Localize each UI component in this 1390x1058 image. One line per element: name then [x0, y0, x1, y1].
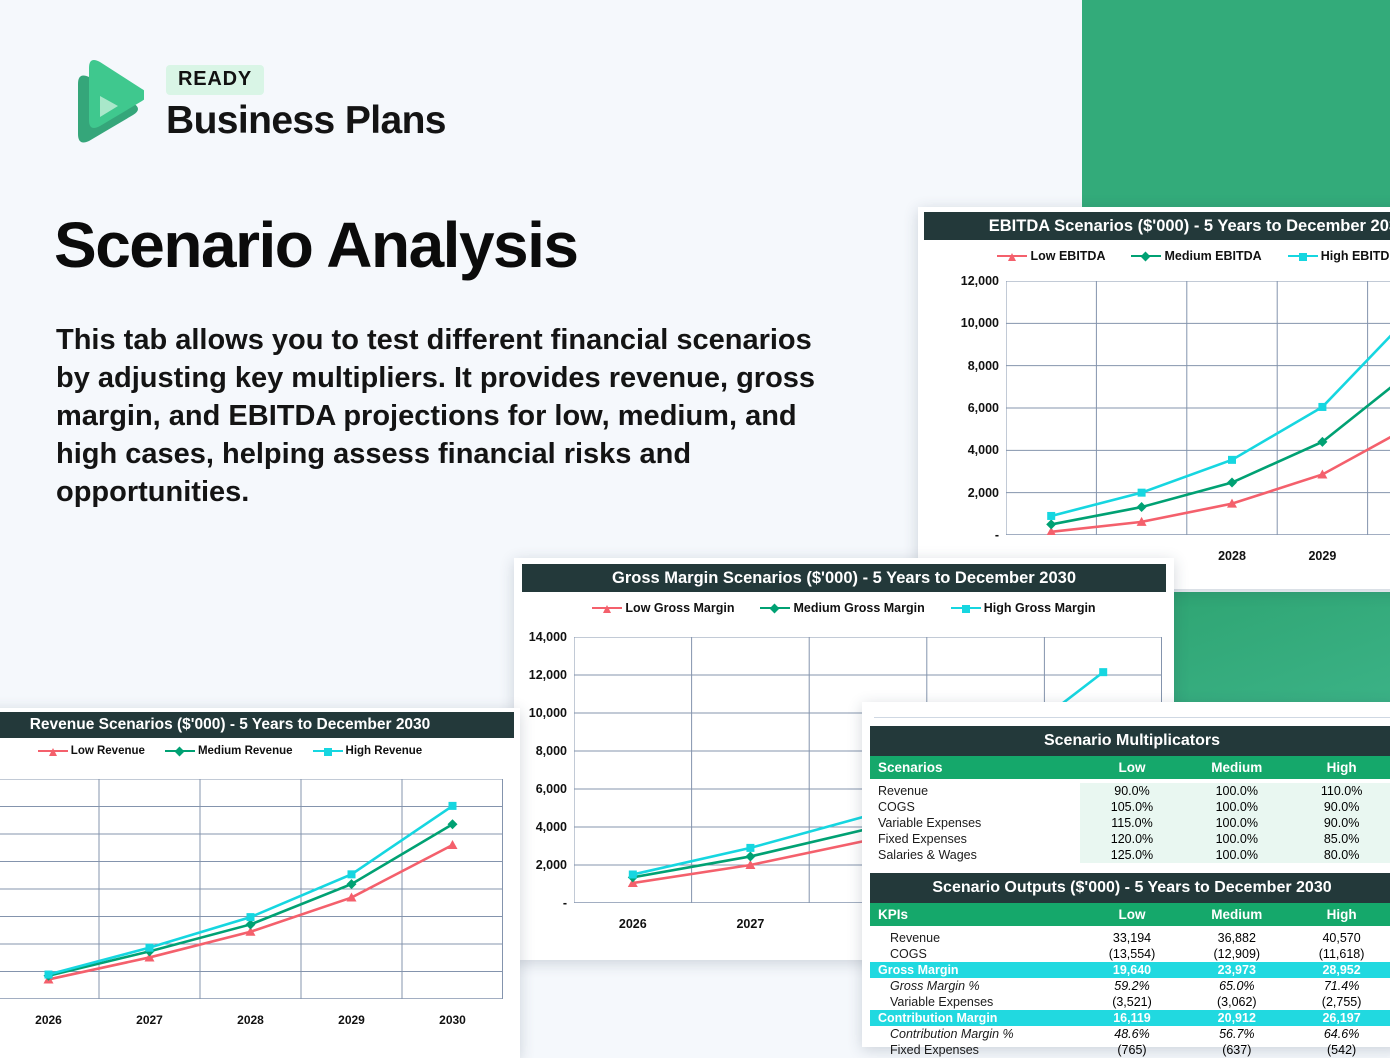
y-axis-tick-label: 2,000	[968, 486, 1006, 500]
brand-name: Business Plans	[166, 101, 446, 140]
ebitda-chart-card: EBITDA Scenarios ($'000) - 5 Years to De…	[918, 207, 1390, 589]
cell-medium: 20,912	[1184, 1010, 1289, 1026]
column-header-scenarios: Scenarios	[870, 756, 1080, 779]
cell-medium: 23,973	[1184, 962, 1289, 978]
cell-medium: (637)	[1184, 1042, 1289, 1058]
column-header-high: High	[1289, 756, 1390, 779]
table-row: Gross Margin %59.2%65.0%71.4%	[870, 978, 1390, 994]
x-axis-tick-label: 2027	[736, 903, 764, 931]
legend-label: Low Gross Margin	[625, 601, 734, 615]
cell-high: 26,197	[1289, 1010, 1390, 1026]
y-axis-tick-label: 10,000	[529, 706, 574, 720]
y-axis-tick-label: 12,000	[529, 668, 574, 682]
column-header-low: Low	[1080, 903, 1185, 926]
table-row-contribution-margin: Contribution Margin16,11920,91226,197	[870, 1010, 1390, 1026]
cell-low: 59.2%	[1080, 978, 1185, 994]
row-label: Variable Expenses	[870, 994, 1080, 1010]
y-axis-tick-label: 8,000	[536, 744, 574, 758]
y-axis-tick-label: 2,000	[536, 858, 574, 872]
cell-low[interactable]: 125.0%	[1080, 847, 1185, 863]
cell-low[interactable]: 105.0%	[1080, 799, 1185, 815]
column-header-low: Low	[1080, 756, 1185, 779]
legend-item-high-revenue: High Revenue	[313, 745, 423, 757]
row-label: Fixed Expenses	[870, 831, 1080, 847]
legend-item-high-gross-margin: High Gross Margin	[951, 601, 1096, 615]
cell-medium: (3,062)	[1184, 994, 1289, 1010]
y-axis-tick-label: 4,000	[536, 820, 574, 834]
cell-medium[interactable]: 100.0%	[1184, 815, 1289, 831]
row-label: Contribution Margin	[870, 1010, 1080, 1026]
table-row: Fixed Expenses(765)(637)(542)	[870, 1042, 1390, 1058]
column-header-medium: Medium	[1184, 756, 1289, 779]
ebitda-chart-legend: Low EBITDA Medium EBITDA High EBITDA	[918, 249, 1390, 263]
cell-low[interactable]: 115.0%	[1080, 815, 1185, 831]
multiplicators-banner: Scenario Multiplicators	[870, 726, 1390, 756]
cell-high[interactable]: 90.0%	[1289, 799, 1390, 815]
y-axis-tick-label: -	[995, 528, 1006, 542]
cell-medium: 65.0%	[1184, 978, 1289, 994]
cell-medium: 36,882	[1184, 930, 1289, 946]
cell-high: 28,952	[1289, 962, 1390, 978]
play-triangle-logo-icon	[56, 56, 144, 148]
column-header-high: High	[1289, 903, 1390, 926]
y-axis-tick-label: 6,000	[968, 401, 1006, 415]
y-axis-tick-label: 4,000	[968, 443, 1006, 457]
cell-low: 19,640	[1080, 962, 1185, 978]
cell-high: 40,570	[1289, 930, 1390, 946]
revenue-chart-card: Revenue Scenarios ($'000) - 5 Years to D…	[0, 708, 520, 1058]
table-row: Revenue33,19436,88240,570	[870, 930, 1390, 946]
table-row: Salaries & Wages125.0%100.0%80.0%	[870, 847, 1390, 863]
table-row-gross-margin: Gross Margin19,64023,97328,952	[870, 962, 1390, 978]
revenue-chart-legend: Low Revenue Medium Revenue High Revenue	[0, 745, 520, 757]
cell-medium[interactable]: 100.0%	[1184, 783, 1289, 799]
cell-high: (11,618)	[1289, 946, 1390, 962]
cell-high[interactable]: 85.0%	[1289, 831, 1390, 847]
legend-item-low-revenue: Low Revenue	[38, 745, 145, 757]
page-title: Scenario Analysis	[54, 208, 578, 282]
decorative-green-block-middle	[1168, 592, 1390, 702]
cell-medium[interactable]: 100.0%	[1184, 831, 1289, 847]
row-label: COGS	[870, 946, 1080, 962]
legend-label: High Revenue	[346, 745, 423, 757]
cell-low: (765)	[1080, 1042, 1185, 1058]
cell-high: 71.4%	[1289, 978, 1390, 994]
decorative-green-block-top	[1082, 0, 1390, 208]
y-axis-tick-label: 8,000	[968, 359, 1006, 373]
legend-item-low-gross-margin: Low Gross Margin	[592, 601, 734, 615]
table-row: Fixed Expenses120.0%100.0%85.0%	[870, 831, 1390, 847]
legend-label: High EBITDA	[1321, 249, 1390, 263]
x-axis-tick-label: 2026	[35, 999, 62, 1027]
table-row: Contribution Margin %48.6%56.7%64.6%	[870, 1026, 1390, 1042]
legend-label: Low EBITDA	[1030, 249, 1105, 263]
legend-item-medium-revenue: Medium Revenue	[165, 745, 293, 757]
row-label: Salaries & Wages	[870, 847, 1080, 863]
x-axis-tick-label: 2029	[338, 999, 365, 1027]
outputs-table: KPIs Low Medium High Revenue33,19436,882…	[870, 903, 1390, 1058]
legend-item-medium-ebitda: Medium EBITDA	[1131, 249, 1261, 263]
row-label: Revenue	[870, 783, 1080, 799]
page-description: This tab allows you to test different fi…	[56, 322, 846, 512]
legend-item-low-ebitda: Low EBITDA	[997, 249, 1105, 263]
ebitda-chart-title: EBITDA Scenarios ($'000) - 5 Years to De…	[924, 212, 1390, 240]
y-axis-tick-label: 12,000	[961, 274, 1006, 288]
ebitda-plot-area: -2,0004,0006,0008,00010,00012,0002028202…	[1006, 281, 1390, 535]
cell-low: 48.6%	[1080, 1026, 1185, 1042]
cell-low: 33,194	[1080, 930, 1185, 946]
cell-high: 64.6%	[1289, 1026, 1390, 1042]
legend-label: Medium Revenue	[198, 745, 293, 757]
cell-high: (2,755)	[1289, 994, 1390, 1010]
y-axis-tick-label: 10,000	[961, 316, 1006, 330]
panel-top-rule	[874, 708, 1390, 718]
cell-medium[interactable]: 100.0%	[1184, 799, 1289, 815]
ready-badge: READY	[166, 65, 264, 95]
table-header-row: Scenarios Low Medium High	[870, 756, 1390, 779]
cell-medium: (12,909)	[1184, 946, 1289, 962]
row-label: COGS	[870, 799, 1080, 815]
x-axis-tick-label: 2028	[1218, 535, 1246, 563]
cell-low[interactable]: 90.0%	[1080, 783, 1185, 799]
legend-label: Low Revenue	[71, 745, 145, 757]
scenario-tables-panel: Scenario Multiplicators Scenarios Low Me…	[862, 702, 1390, 1047]
legend-label: Medium EBITDA	[1164, 249, 1261, 263]
table-row: Variable Expenses(3,521)(3,062)(2,755)	[870, 994, 1390, 1010]
brand-wordmark: READY Business Plans	[166, 65, 446, 140]
cell-high[interactable]: 110.0%	[1289, 783, 1390, 799]
outputs-banner: Scenario Outputs ($'000) - 5 Years to De…	[870, 873, 1390, 903]
cell-low[interactable]: 120.0%	[1080, 831, 1185, 847]
brand-logo: READY Business Plans	[56, 56, 446, 148]
cell-high[interactable]: 90.0%	[1289, 815, 1390, 831]
row-label: Revenue	[870, 930, 1080, 946]
column-header-medium: Medium	[1184, 903, 1289, 926]
legend-label: Medium Gross Margin	[793, 601, 924, 615]
gross-margin-chart-legend: Low Gross Margin Medium Gross Margin Hig…	[514, 601, 1174, 615]
table-row: COGS105.0%100.0%90.0%	[870, 799, 1390, 815]
revenue-plot-area: 20262027202820292030	[0, 779, 503, 999]
x-axis-tick-label: 2028	[237, 999, 264, 1027]
x-axis-tick-label: 2027	[136, 999, 163, 1027]
column-header-kpis: KPIs	[870, 903, 1080, 926]
multiplicators-table: Scenarios Low Medium High Revenue90.0%10…	[870, 756, 1390, 863]
row-label: Gross Margin %	[870, 978, 1080, 994]
gross-margin-chart-title: Gross Margin Scenarios ($'000) - 5 Years…	[522, 564, 1166, 592]
cell-medium: 56.7%	[1184, 1026, 1289, 1042]
cell-high: (542)	[1289, 1042, 1390, 1058]
row-label: Variable Expenses	[870, 815, 1080, 831]
legend-item-high-ebitda: High EBITDA	[1288, 249, 1390, 263]
table-row: Revenue90.0%100.0%110.0%	[870, 783, 1390, 799]
table-header-row: KPIs Low Medium High	[870, 903, 1390, 926]
y-axis-tick-label: -	[563, 896, 574, 910]
legend-item-medium-gross-margin: Medium Gross Margin	[760, 601, 924, 615]
legend-label: High Gross Margin	[984, 601, 1096, 615]
table-row: Variable Expenses115.0%100.0%90.0%	[870, 815, 1390, 831]
cell-low: (3,521)	[1080, 994, 1185, 1010]
row-label: Fixed Expenses	[870, 1042, 1080, 1058]
y-axis-tick-label: 14,000	[529, 630, 574, 644]
x-axis-tick-label: 2026	[619, 903, 647, 931]
x-axis-tick-label: 2030	[439, 999, 466, 1027]
revenue-chart-title: Revenue Scenarios ($'000) - 5 Years to D…	[0, 712, 514, 738]
cell-low: (13,554)	[1080, 946, 1185, 962]
row-label: Contribution Margin %	[870, 1026, 1080, 1042]
cell-high[interactable]: 80.0%	[1289, 847, 1390, 863]
table-row: COGS(13,554)(12,909)(11,618)	[870, 946, 1390, 962]
cell-medium[interactable]: 100.0%	[1184, 847, 1289, 863]
x-axis-tick-label: 2029	[1308, 535, 1336, 563]
cell-low: 16,119	[1080, 1010, 1185, 1026]
y-axis-tick-label: 6,000	[536, 782, 574, 796]
row-label: Gross Margin	[870, 962, 1080, 978]
